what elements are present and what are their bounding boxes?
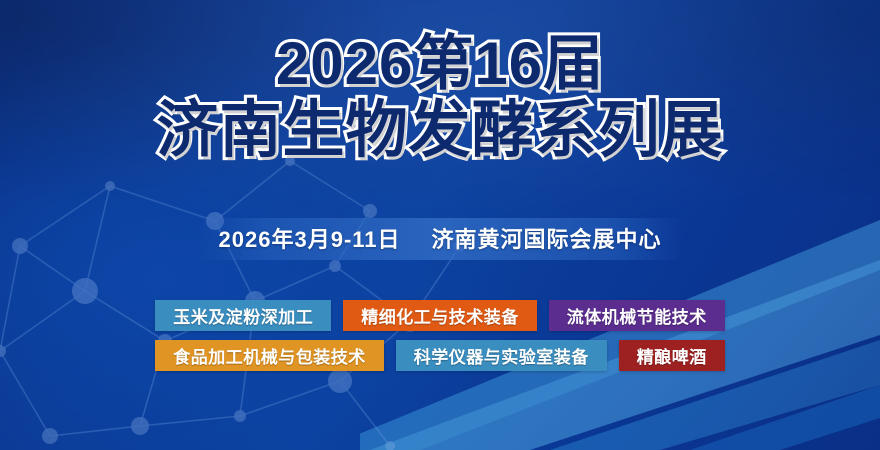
topic-tag[interactable]: 流体机械节能技术: [549, 300, 725, 331]
topic-tag[interactable]: 精酿啤酒: [619, 340, 725, 371]
topic-tag-list: 玉米及淀粉深加工 精细化工与技术装备 流体机械节能技术 食品加工机械与包装技术 …: [0, 300, 880, 380]
title-line-2: 济南生物发酵系列展: [0, 100, 880, 162]
exhibition-banner: 2026第16届 济南生物发酵系列展 2026年3月9-11日 济南黄河国际会展…: [0, 0, 880, 450]
topic-tag[interactable]: 科学仪器与实验室装备: [396, 340, 607, 371]
topic-tag-row-1: 玉米及淀粉深加工 精细化工与技术装备 流体机械节能技术: [0, 300, 880, 331]
topic-tag-row-2: 食品加工机械与包装技术 科学仪器与实验室装备 精酿啤酒: [0, 340, 880, 371]
topic-tag[interactable]: 精细化工与技术装备: [343, 300, 537, 331]
title-line-1: 2026第16届: [0, 34, 880, 100]
banner-title: 2026第16届 济南生物发酵系列展: [0, 34, 880, 162]
event-info-inner: 2026年3月9-11日 济南黄河国际会展中心: [197, 218, 684, 260]
topic-tag[interactable]: 玉米及淀粉深加工: [155, 300, 331, 331]
event-venue: 济南黄河国际会展中心: [431, 227, 661, 252]
topic-tag[interactable]: 食品加工机械与包装技术: [155, 340, 384, 371]
molecule-network-decor: [0, 126, 470, 450]
event-info-strip: 2026年3月9-11日 济南黄河国际会展中心: [0, 218, 880, 260]
event-date: 2026年3月9-11日: [219, 227, 401, 252]
